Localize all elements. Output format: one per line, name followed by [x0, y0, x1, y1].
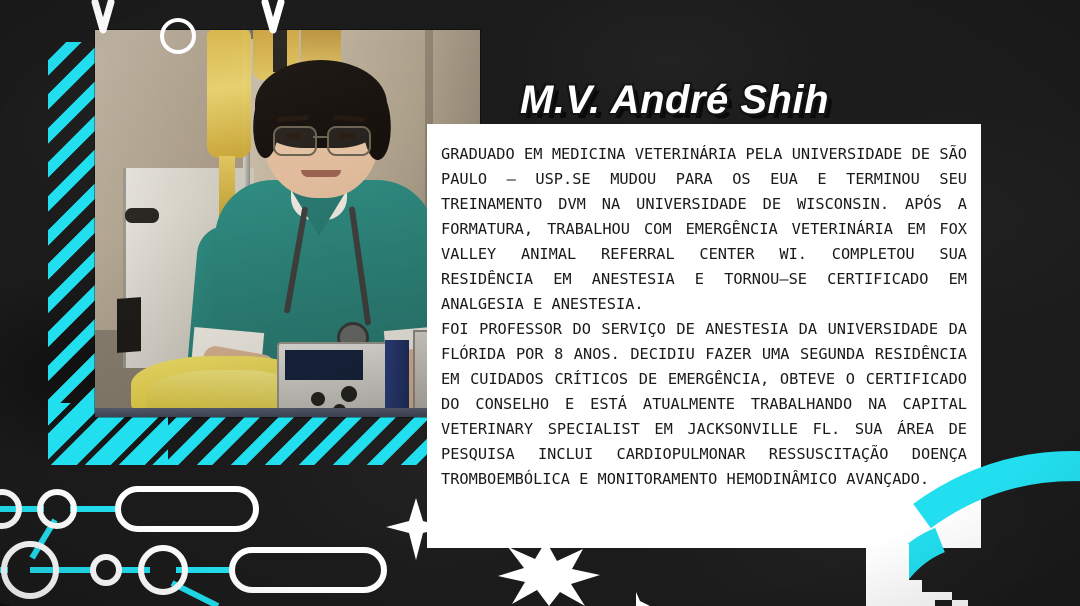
pixel-bar-6	[935, 592, 952, 600]
sparkle-star-icon	[386, 498, 446, 560]
network-pill-left	[118, 489, 256, 529]
slide-root: M.V. André Shih GRADUADO EM MEDICINA VET…	[0, 0, 1080, 606]
pixel-bar-3	[896, 544, 909, 606]
pixel-bar-7	[952, 600, 968, 606]
ring-outline-icon	[162, 20, 194, 52]
network-connectors	[0, 509, 232, 606]
decoration-layer	[0, 0, 1080, 606]
chevron-down-icon-left	[95, 2, 111, 30]
pixel-bar-2	[879, 532, 896, 606]
chevron-down-icon-right	[265, 2, 281, 30]
cyan-arc-decoration	[922, 466, 1080, 516]
pixel-bar-5	[922, 592, 935, 606]
sparkle-small-icon	[636, 592, 650, 606]
pixel-bar-1	[866, 544, 879, 606]
network-pill-right	[232, 550, 384, 590]
pixel-bar-4	[909, 580, 922, 606]
starburst-icon	[498, 541, 600, 606]
